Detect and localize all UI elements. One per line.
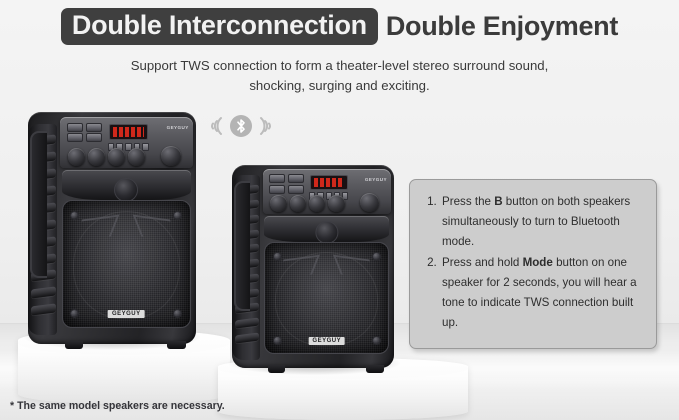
speaker-left-brand-badge: GEYGUY	[108, 310, 145, 318]
speaker-right-knob-volume[interactable]	[360, 193, 379, 212]
speaker-left-tweeter-horn	[62, 170, 191, 200]
speaker-left-foot	[65, 341, 83, 349]
grille-screw	[173, 309, 182, 318]
header: Double Interconnection Double Enjoyment	[0, 8, 679, 45]
speaker-left-knob-bass[interactable]	[128, 148, 145, 165]
grille-screw	[273, 252, 282, 261]
speaker-right-knob-treble[interactable]	[309, 195, 326, 212]
sound-wave-right-icon	[256, 115, 276, 137]
title-plain: Double Enjoyment	[386, 12, 618, 41]
instruction-item-1: Press the B button on both speakers simu…	[440, 192, 642, 252]
panel-button[interactable]	[288, 174, 304, 183]
grille-screw	[173, 211, 182, 220]
speaker-right-knob-echo[interactable]	[290, 195, 307, 212]
speaker-left-woofer-grille: GEYGUY	[62, 200, 191, 328]
instruction-2-pre: Press and hold	[442, 256, 523, 269]
subtitle-line-2: shocking, surging and exciting.	[0, 76, 679, 96]
speaker-left-panel-brand: GEYGUY	[167, 125, 189, 130]
speaker-left-knob-echo[interactable]	[88, 148, 105, 165]
speaker-right-control-panel[interactable]: GEYGUY	[263, 169, 391, 214]
speaker-left-knob-treble[interactable]	[108, 148, 125, 165]
title-badge: Double Interconnection	[61, 8, 378, 45]
speaker-right-knob-mic[interactable]	[270, 195, 287, 212]
speaker-left-body: GEYGUY	[28, 112, 196, 344]
speaker-right-tweeter-dome	[315, 221, 338, 244]
panel-button[interactable]	[288, 185, 304, 194]
led-digits	[314, 178, 344, 187]
speaker-right-foot	[366, 365, 384, 373]
speaker-left-knob-mic[interactable]	[68, 148, 85, 165]
instructions-list: Press the B button on both speakers simu…	[420, 192, 642, 333]
speaker-right-foot	[268, 365, 286, 373]
speaker-right-brand-badge: GEYGUY	[308, 337, 345, 345]
instruction-2-keyword: Mode	[523, 256, 553, 269]
sound-wave-left-icon	[206, 115, 226, 137]
footnote: * The same model speakers are necessary.	[10, 400, 225, 412]
panel-button[interactable]	[269, 174, 285, 183]
speaker-right-panel-brand: GEYGUY	[365, 177, 387, 182]
promo-banner: Double Interconnection Double Enjoyment …	[0, 0, 679, 420]
instruction-item-2: Press and hold Mode button on one speake…	[440, 253, 642, 333]
grille-screw	[70, 309, 79, 318]
speaker-right-knob-bass[interactable]	[328, 195, 345, 212]
panel-button[interactable]	[269, 185, 285, 194]
speaker-left-control-panel[interactable]: GEYGUY	[60, 117, 193, 168]
speaker-right-tweeter-horn	[264, 216, 389, 242]
panel-button[interactable]	[67, 123, 84, 132]
panel-small-button[interactable]	[142, 143, 149, 151]
subtitle-line-1: Support TWS connection to form a theater…	[0, 56, 679, 76]
speaker-left-tweeter-dome	[114, 178, 138, 202]
speaker-right: GEYGUY	[232, 165, 394, 368]
panel-button[interactable]	[67, 133, 84, 142]
instruction-1-pre: Press the	[442, 195, 494, 208]
grille-screw	[372, 252, 381, 261]
speaker-left: GEYGUY	[28, 112, 196, 344]
speaker-left-handle	[30, 131, 47, 279]
speaker-right-body: GEYGUY	[232, 165, 394, 368]
speaker-right-handle	[234, 181, 251, 311]
speaker-right-function-buttons[interactable]	[269, 174, 304, 192]
speaker-left-knob-volume[interactable]	[161, 146, 181, 166]
instruction-1-keyword: B	[494, 195, 502, 208]
panel-button[interactable]	[86, 133, 103, 142]
speaker-left-foot	[167, 341, 185, 349]
grille-screw	[70, 211, 79, 220]
grille-screw	[372, 336, 381, 345]
led-digits	[113, 127, 144, 137]
panel-button[interactable]	[86, 123, 103, 132]
bluetooth-connection-indicator	[199, 110, 283, 142]
subtitle: Support TWS connection to form a theater…	[0, 56, 679, 97]
grille-screw	[273, 336, 282, 345]
speaker-left-function-buttons[interactable]	[67, 123, 103, 141]
page-title: Double Interconnection Double Enjoyment	[61, 8, 618, 45]
speaker-right-led-display	[310, 175, 348, 190]
speaker-right-woofer-grille: GEYGUY	[264, 242, 389, 354]
bluetooth-icon	[230, 115, 252, 137]
speaker-left-led-display	[109, 124, 148, 140]
instructions-box: Press the B button on both speakers simu…	[409, 179, 657, 349]
